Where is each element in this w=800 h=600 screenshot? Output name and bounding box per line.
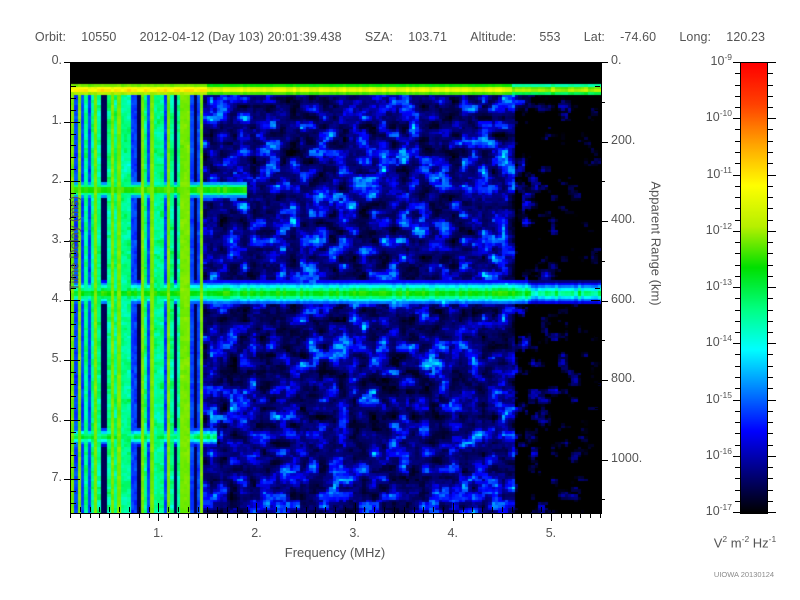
colorbar-minor-tick — [768, 354, 773, 355]
y-axis-minor-tick-inner — [595, 134, 600, 135]
colorbar-major-tick-left — [733, 287, 740, 288]
y-axis-minor-tick-inner — [595, 253, 600, 254]
x-axis-outer-minor-tick — [492, 514, 493, 518]
x-axis-minor-tick — [276, 507, 277, 512]
y-axis-minor-tick-inner — [595, 205, 600, 206]
colorbar-minor-tick — [768, 501, 773, 502]
x-axis-minor-tick — [286, 507, 287, 512]
x-axis-minor-tick — [600, 507, 601, 512]
x-axis-minor-tick — [315, 507, 316, 512]
y-axis-major-tick-inner — [591, 479, 600, 480]
lat-label: Lat: — [584, 30, 605, 44]
long-value: 120.23 — [726, 30, 765, 44]
y-axis-minor-tick-inner — [595, 312, 600, 313]
x-axis-outer-minor-tick — [541, 514, 542, 518]
colorbar-minor-tick-left — [735, 411, 740, 412]
x-axis-top-tick — [158, 63, 159, 72]
y-axis-minor-tick — [71, 443, 76, 444]
colorbar-minor-tick — [768, 332, 773, 333]
sza-value: 103.71 — [408, 30, 447, 44]
y2-axis-outer-tick — [601, 380, 608, 381]
x-axis-top-tick — [80, 63, 81, 68]
x-axis-title: Frequency (MHz) — [70, 545, 600, 560]
y-axis-minor-tick — [71, 348, 76, 349]
x-axis-outer-minor-tick — [198, 514, 199, 518]
x-axis-top-tick — [404, 63, 405, 68]
y-axis-minor-tick-inner — [595, 324, 600, 325]
colorbar-minor-tick-left — [735, 242, 740, 243]
colorbar-minor-tick-left — [735, 321, 740, 322]
colorbar-tick-label-5: 10-14 — [680, 333, 732, 349]
x-axis-minor-tick — [188, 507, 189, 512]
x-axis-outer-minor-tick — [119, 514, 120, 518]
y-axis-minor-tick — [71, 432, 76, 433]
colorbar-minor-tick — [768, 422, 773, 423]
y2-axis-minor-tick — [601, 340, 605, 341]
colorbar-minor-tick — [768, 433, 773, 434]
colorbar-minor-tick — [768, 388, 773, 389]
x-axis-outer-minor-tick — [364, 514, 365, 518]
colorbar-minor-tick — [768, 152, 773, 153]
colorbar-tick-base: 10 — [706, 448, 720, 462]
colorbar-minor-tick — [768, 366, 773, 367]
colorbar-tick-base: 10 — [711, 54, 725, 68]
orbit-value: 10550 — [81, 30, 116, 44]
colorbar-minor-tick-left — [735, 298, 740, 299]
x-axis-outer-minor-tick — [306, 514, 307, 518]
x-axis-top-tick — [600, 63, 601, 68]
y-axis-minor-tick-inner — [595, 336, 600, 337]
x-axis-minor-tick — [227, 507, 228, 512]
colorbar-tick-label-6: 10-15 — [680, 390, 732, 406]
x-axis-outer-major-tick — [453, 514, 454, 521]
colorbar-minor-tick — [768, 208, 773, 209]
x-axis-outer-major-tick — [256, 514, 257, 521]
colorbar-minor-tick — [768, 197, 773, 198]
x-axis-outer-minor-tick — [345, 514, 346, 518]
colorbar-tick-exponent: -12 — [720, 221, 732, 231]
y-axis-tick-label-5: 5. — [8, 351, 62, 365]
y2-axis-outer-tick — [601, 142, 608, 143]
colorbar-minor-tick-left — [735, 422, 740, 423]
y-axis-major-tick-inner — [591, 122, 600, 123]
x-axis-outer-minor-tick — [99, 514, 100, 518]
x-axis-minor-tick — [433, 507, 434, 512]
x-axis-top-tick — [541, 63, 542, 68]
colorbar-major-tick-left — [733, 118, 740, 119]
y-axis-major-tick — [71, 360, 80, 361]
x-axis-minor-tick — [247, 507, 248, 512]
colorbar-minor-tick-left — [735, 107, 740, 108]
colorbar-minor-tick — [768, 253, 773, 254]
x-axis-outer-minor-tick — [521, 514, 522, 518]
x-axis-top-tick — [276, 63, 277, 68]
x-axis-outer-minor-tick — [580, 514, 581, 518]
colorbar-major-tick-left — [733, 62, 740, 63]
x-axis-top-tick — [502, 63, 503, 68]
x-axis-top-tick — [227, 63, 228, 68]
x-axis-top-tick — [256, 63, 257, 72]
x-axis-top-tick — [423, 63, 424, 68]
x-axis-top-tick — [345, 63, 346, 68]
y2-axis-tick-label-0: 0. — [611, 53, 667, 67]
colorbar-major-tick-left — [733, 400, 740, 401]
x-axis-top-tick — [90, 63, 91, 68]
colorbar-tick-base: 10 — [706, 335, 720, 349]
colorbar-tick-exponent: -15 — [720, 390, 732, 400]
x-axis-outer-minor-tick — [276, 514, 277, 518]
x-axis-outer-minor-tick — [561, 514, 562, 518]
y-axis-major-tick-inner — [591, 300, 600, 301]
colorbar-minor-tick — [768, 220, 773, 221]
y-axis-minor-tick — [71, 324, 76, 325]
ionogram-page: Orbit: 10550 2012-04-12 (Day 103) 20:01:… — [0, 0, 800, 600]
colorbar-minor-tick — [768, 107, 773, 108]
x-axis-outer-minor-tick — [325, 514, 326, 518]
colorbar-minor-tick-left — [735, 129, 740, 130]
x-axis-minor-tick — [70, 507, 71, 512]
y-axis-minor-tick-inner — [595, 145, 600, 146]
colorbar-tick-base: 10 — [706, 167, 720, 181]
y-axis-major-tick-inner — [591, 360, 600, 361]
lat-value: -74.60 — [620, 30, 656, 44]
x-axis-minor-tick — [472, 507, 473, 512]
colorbar-tick-label-3: 10-12 — [680, 221, 732, 237]
x-axis-top-tick — [188, 63, 189, 68]
x-axis-outer-minor-tick — [70, 514, 71, 518]
x-axis-outer-minor-tick — [423, 514, 424, 518]
colorbar-tick-label-0: 10-9 — [680, 52, 732, 68]
colorbar-major-tick-left — [733, 231, 740, 232]
x-axis-minor-tick — [443, 507, 444, 512]
x-axis-minor-tick — [374, 507, 375, 512]
x-axis-top-tick — [149, 63, 150, 68]
colorbar-major-tick-left — [733, 456, 740, 457]
x-axis-outer-minor-tick — [237, 514, 238, 518]
y2-axis-minor-tick — [601, 261, 605, 262]
x-axis-top-tick — [178, 63, 179, 68]
x-axis-outer-minor-tick — [463, 514, 464, 518]
x-axis-outer-major-tick — [355, 514, 356, 521]
colorbar-tick-exponent: -17 — [720, 502, 732, 512]
x-axis-outer-minor-tick — [266, 514, 267, 518]
x-axis-top-tick — [590, 63, 591, 68]
x-axis-top-tick — [119, 63, 120, 68]
y-axis-minor-tick-inner — [595, 193, 600, 194]
y2-axis-minor-tick — [601, 420, 605, 421]
y-axis-minor-tick-inner — [595, 157, 600, 158]
colorbar-tick-label-4: 10-13 — [680, 277, 732, 293]
colorbar-minor-tick — [768, 467, 773, 468]
x-axis-minor-tick — [129, 507, 130, 512]
x-axis-minor-tick — [345, 507, 346, 512]
x-axis-top-tick — [414, 63, 415, 68]
colorbar-tick-exponent: -14 — [720, 333, 732, 343]
colorbar-major-tick — [768, 118, 776, 119]
x-axis-tick-label-4: 5. — [521, 526, 581, 540]
x-axis-tick-label-1: 2. — [226, 526, 286, 540]
colorbar-major-tick — [768, 62, 776, 63]
x-axis-top-tick — [139, 63, 140, 68]
colorbar-tick-label-2: 10-11 — [680, 165, 732, 181]
colorbar-minor-tick-left — [735, 85, 740, 86]
colorbar-minor-tick — [768, 73, 773, 74]
x-axis-top-tick — [266, 63, 267, 68]
x-axis-minor-tick — [531, 507, 532, 512]
colorbar-minor-tick-left — [735, 253, 740, 254]
colorbar-minor-tick — [768, 242, 773, 243]
colorbar-minor-tick — [768, 478, 773, 479]
x-axis-minor-tick — [296, 507, 297, 512]
x-axis-outer-minor-tick — [188, 514, 189, 518]
y-axis-minor-tick — [71, 86, 76, 87]
x-axis-top-tick — [531, 63, 532, 68]
x-axis-minor-tick — [414, 507, 415, 512]
credit-text: UIOWA 20130124 — [690, 570, 798, 579]
x-axis-outer-minor-tick — [600, 514, 601, 518]
colorbar-minor-tick-left — [735, 208, 740, 209]
x-axis-outer-minor-tick — [247, 514, 248, 518]
x-axis-outer-minor-tick — [139, 514, 140, 518]
colorbar-major-tick — [768, 231, 776, 232]
y-axis-minor-tick — [71, 372, 76, 373]
colorbar-minor-tick-left — [735, 354, 740, 355]
y-axis-title-right: Apparent Range (km) — [649, 164, 664, 324]
x-axis-outer-minor-tick — [178, 514, 179, 518]
x-axis-top-tick — [492, 63, 493, 68]
x-axis-outer-minor-tick — [207, 514, 208, 518]
x-axis-top-tick — [521, 63, 522, 68]
y-axis-minor-tick — [71, 396, 76, 397]
x-axis-minor-tick — [90, 507, 91, 512]
x-axis-outer-minor-tick — [571, 514, 572, 518]
y-axis-minor-tick-inner — [595, 396, 600, 397]
colorbar-minor-tick-left — [735, 186, 740, 187]
y-axis-minor-tick-inner — [595, 265, 600, 266]
colorbar-minor-tick-left — [735, 490, 740, 491]
x-axis-outer-minor-tick — [90, 514, 91, 518]
colorbar-major-tick — [768, 512, 776, 513]
y2-axis-outer-tick — [601, 221, 608, 222]
colorbar-minor-tick — [768, 445, 773, 446]
y2-axis-tick-label-1: 200. — [611, 133, 667, 147]
y-axis-minor-tick-inner — [595, 443, 600, 444]
x-axis-outer-major-tick — [551, 514, 552, 521]
colorbar-tick-base: 10 — [706, 279, 720, 293]
y-axis-outer-tick — [64, 360, 70, 361]
x-axis-outer-major-tick — [158, 514, 159, 521]
x-axis-top-tick — [571, 63, 572, 68]
y-axis-minor-tick — [71, 467, 76, 468]
colorbar-minor-tick — [768, 321, 773, 322]
x-axis-top-tick — [374, 63, 375, 68]
colorbar-minor-tick — [768, 411, 773, 412]
x-axis-outer-minor-tick — [80, 514, 81, 518]
colorbar-minor-tick-left — [735, 73, 740, 74]
units-m: m — [727, 535, 741, 550]
y2-axis-outer-tick — [601, 62, 608, 63]
colorbar-tick-exponent: -16 — [720, 446, 732, 456]
x-axis-top-tick — [335, 63, 336, 68]
y-axis-minor-tick-inner — [595, 467, 600, 468]
x-axis-outer-minor-tick — [384, 514, 385, 518]
x-axis-minor-tick — [168, 507, 169, 512]
y-axis-minor-tick — [71, 98, 76, 99]
colorbar-minor-tick — [768, 276, 773, 277]
sza-label: SZA: — [365, 30, 393, 44]
x-axis-top-tick — [482, 63, 483, 68]
colorbar-minor-tick — [768, 310, 773, 311]
colorbar-tick-base: 10 — [706, 504, 720, 518]
y2-axis-minor-tick — [601, 499, 605, 500]
x-axis-top-tick — [453, 63, 454, 72]
x-axis-top-tick — [325, 63, 326, 68]
colorbar-minor-tick-left — [735, 141, 740, 142]
y-axis-minor-tick-inner — [595, 277, 600, 278]
x-axis-top-tick — [551, 63, 552, 72]
datetime-value: 2012-04-12 (Day 103) 20:01:39.438 — [140, 30, 342, 44]
y-axis-minor-tick-inner — [595, 98, 600, 99]
x-axis-major-tick — [551, 503, 552, 512]
x-axis-top-tick — [247, 63, 248, 68]
x-axis-minor-tick — [149, 507, 150, 512]
y-axis-minor-tick — [71, 491, 76, 492]
long-label: Long: — [679, 30, 711, 44]
x-axis-outer-minor-tick — [296, 514, 297, 518]
x-axis-minor-tick — [394, 507, 395, 512]
x-axis-top-tick — [580, 63, 581, 68]
y-axis-minor-tick-inner — [595, 384, 600, 385]
y-axis-minor-tick-inner — [595, 110, 600, 111]
y-axis-minor-tick — [71, 384, 76, 385]
x-axis-outer-minor-tick — [168, 514, 169, 518]
x-axis-top-tick — [129, 63, 130, 68]
x-axis-outer-minor-tick — [502, 514, 503, 518]
x-axis-top-tick — [168, 63, 169, 68]
y-axis-minor-tick — [71, 134, 76, 135]
x-axis-tick-label-0: 1. — [128, 526, 188, 540]
x-axis-outer-minor-tick — [433, 514, 434, 518]
y2-axis-outer-tick — [601, 460, 608, 461]
x-axis-outer-minor-tick — [443, 514, 444, 518]
x-axis-top-tick — [443, 63, 444, 68]
x-axis-minor-tick — [502, 507, 503, 512]
x-axis-outer-minor-tick — [404, 514, 405, 518]
y-axis-minor-tick-inner — [595, 372, 600, 373]
x-axis-minor-tick — [492, 507, 493, 512]
colorbar-tick-label-1: 10-10 — [680, 108, 732, 124]
x-axis-outer-minor-tick — [590, 514, 591, 518]
x-axis-tick-label-3: 4. — [423, 526, 483, 540]
header-info-line: Orbit: 10550 2012-04-12 (Day 103) 20:01:… — [0, 30, 800, 44]
x-axis-minor-tick — [325, 507, 326, 512]
x-axis-top-tick — [99, 63, 100, 68]
x-axis-minor-tick — [119, 507, 120, 512]
colorbar-minor-tick — [768, 141, 773, 142]
y-axis-minor-tick — [71, 503, 76, 504]
y-axis-major-tick-inner — [591, 241, 600, 242]
x-axis-major-tick — [355, 503, 356, 512]
y-axis-major-tick — [71, 420, 80, 421]
colorbar-minor-tick-left — [735, 501, 740, 502]
x-axis-outer-minor-tick — [472, 514, 473, 518]
x-axis-minor-tick — [306, 507, 307, 512]
x-axis-outer-minor-tick — [286, 514, 287, 518]
x-axis-minor-tick — [237, 507, 238, 512]
y-axis-tick-label-6: 6. — [8, 411, 62, 425]
x-axis-minor-tick — [178, 507, 179, 512]
x-axis-outer-minor-tick — [512, 514, 513, 518]
x-axis-outer-minor-tick — [227, 514, 228, 518]
x-axis-outer-minor-tick — [335, 514, 336, 518]
x-axis-top-tick — [433, 63, 434, 68]
x-axis-top-tick — [472, 63, 473, 68]
colorbar-minor-tick-left — [735, 445, 740, 446]
x-axis-top-tick — [217, 63, 218, 68]
x-axis-minor-tick — [198, 507, 199, 512]
colorbar-minor-tick-left — [735, 276, 740, 277]
y-axis-minor-tick-inner — [595, 288, 600, 289]
colorbar-minor-tick-left — [735, 197, 740, 198]
y2-axis-minor-tick — [601, 102, 605, 103]
colorbar-minor-tick-left — [735, 433, 740, 434]
x-axis-minor-tick — [364, 507, 365, 512]
y-axis-minor-tick-inner — [595, 74, 600, 75]
colorbar-tick-exponent: -10 — [720, 108, 732, 118]
colorbar-major-tick — [768, 287, 776, 288]
x-axis-minor-tick — [571, 507, 572, 512]
colorbar-minor-tick-left — [735, 152, 740, 153]
colorbar-tick-exponent: -11 — [720, 165, 732, 175]
colorbar-minor-tick-left — [735, 332, 740, 333]
y-axis-minor-tick-inner — [595, 455, 600, 456]
y-axis-major-tick — [71, 479, 80, 480]
x-axis-top-tick — [296, 63, 297, 68]
x-axis-outer-minor-tick — [109, 514, 110, 518]
x-axis-minor-tick — [335, 507, 336, 512]
y-axis-tick-label-7: 7. — [8, 470, 62, 484]
altitude-value: 553 — [539, 30, 560, 44]
y-axis-outer-tick — [64, 122, 70, 123]
y-axis-minor-tick — [71, 408, 76, 409]
x-axis-minor-tick — [512, 507, 513, 512]
y-axis-tick-label-4: 4. — [8, 291, 62, 305]
x-axis-top-tick — [237, 63, 238, 68]
colorbar-minor-tick-left — [735, 366, 740, 367]
x-axis-tick-label-2: 3. — [325, 526, 385, 540]
colorbar-tick-base: 10 — [706, 392, 720, 406]
x-axis-minor-tick — [521, 507, 522, 512]
x-axis-top-tick — [109, 63, 110, 68]
colorbar-gradient — [741, 63, 767, 513]
x-axis-outer-minor-tick — [394, 514, 395, 518]
y-axis-minor-tick-inner — [595, 491, 600, 492]
x-axis-minor-tick — [404, 507, 405, 512]
y-axis-tick-label-1: 1. — [8, 113, 62, 127]
y-axis-major-tick — [71, 62, 80, 63]
x-axis-major-tick — [453, 503, 454, 512]
colorbar-major-tick — [768, 456, 776, 457]
x-axis-minor-tick — [463, 507, 464, 512]
x-axis-top-tick — [207, 63, 208, 68]
y-axis-minor-tick-inner — [595, 169, 600, 170]
x-axis-minor-tick — [217, 507, 218, 512]
colorbar-minor-tick-left — [735, 478, 740, 479]
x-axis-minor-tick — [80, 507, 81, 512]
colorbar-major-tick-left — [733, 343, 740, 344]
colorbar-major-tick-left — [733, 512, 740, 513]
y-axis-minor-tick-inner — [595, 408, 600, 409]
